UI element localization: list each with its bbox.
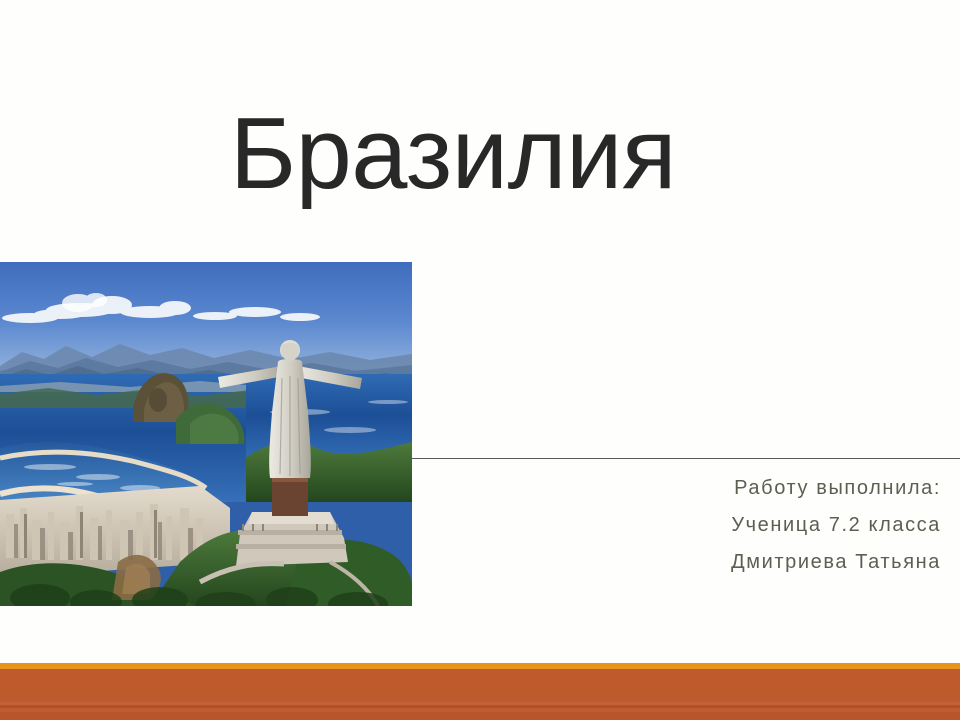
- slide-title: Бразилия: [0, 104, 906, 205]
- horizontal-divider: [412, 458, 960, 459]
- presentation-slide: Бразилия: [0, 0, 960, 720]
- byline-block: Работу выполнила: Ученица 7.2 класса Дми…: [521, 470, 941, 581]
- footer-band-main: [0, 669, 960, 702]
- footer-band-stripe-4: [0, 712, 960, 720]
- byline-line-1: Работу выполнила:: [521, 470, 941, 507]
- byline-line-3: Дмитриева Татьяна: [521, 544, 941, 581]
- rio-photo: [0, 262, 412, 606]
- byline-line-2: Ученица 7.2 класса: [521, 507, 941, 544]
- rio-photo-illustration: [0, 262, 412, 606]
